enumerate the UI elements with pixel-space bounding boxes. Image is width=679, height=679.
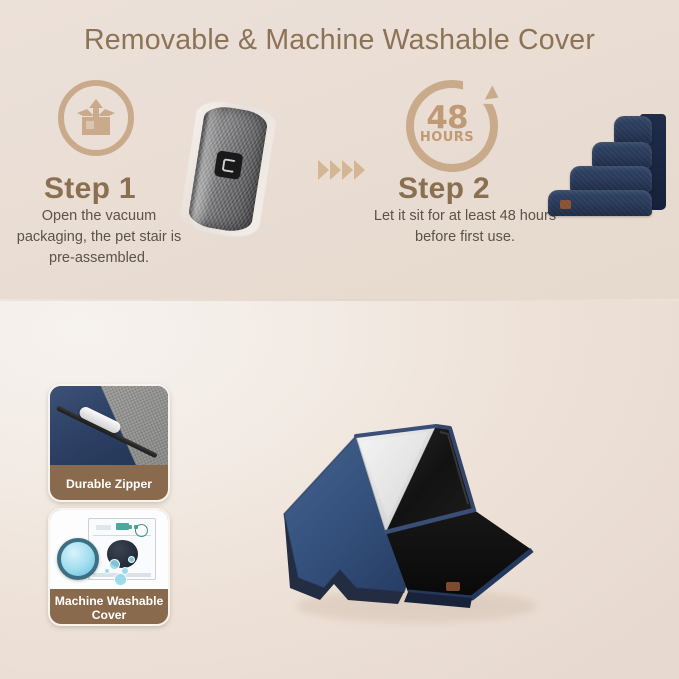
badge-durable-zipper-label: Durable Zipper	[50, 465, 168, 502]
brand-leather-tag	[560, 200, 571, 209]
badge-machine-washable-label: Machine Washable Cover	[50, 589, 168, 626]
chevron-right-icon	[318, 160, 329, 180]
vacuum-sealed-pet-stair-roll-image	[187, 104, 269, 235]
badge-durable-zipper: Durable Zipper	[48, 384, 170, 502]
chevron-right-icon	[330, 160, 341, 180]
step-2-title: Step 2	[398, 172, 490, 206]
open-box-arrow-up-icon	[58, 80, 134, 156]
step-1-title: Step 1	[44, 172, 136, 206]
zipper-closeup-icon	[50, 386, 168, 465]
pet-stair-cover-peeled-back-image	[236, 392, 584, 640]
step-2-description: Let it sit for at least 48 hours before …	[354, 206, 576, 248]
48-hours-clock-arrow-icon: 48 HOURS	[404, 78, 500, 174]
navy-4-step-pet-stair-image	[548, 108, 666, 216]
product-brand-logo	[214, 150, 244, 180]
hours-unit-label: HOURS	[404, 130, 490, 145]
washing-machine-icon	[50, 510, 168, 589]
badge-machine-washable: Machine Washable Cover	[48, 508, 170, 626]
product-infographic: Step 1 Open the vacuum packaging, the pe…	[0, 0, 679, 679]
chevron-arrows	[318, 160, 365, 180]
chevron-right-icon	[354, 160, 365, 180]
section-heading: Removable & Machine Washable Cover	[0, 24, 679, 57]
chevron-right-icon	[342, 160, 353, 180]
step-1-description: Open the vacuum packaging, the pet stair…	[14, 206, 184, 269]
